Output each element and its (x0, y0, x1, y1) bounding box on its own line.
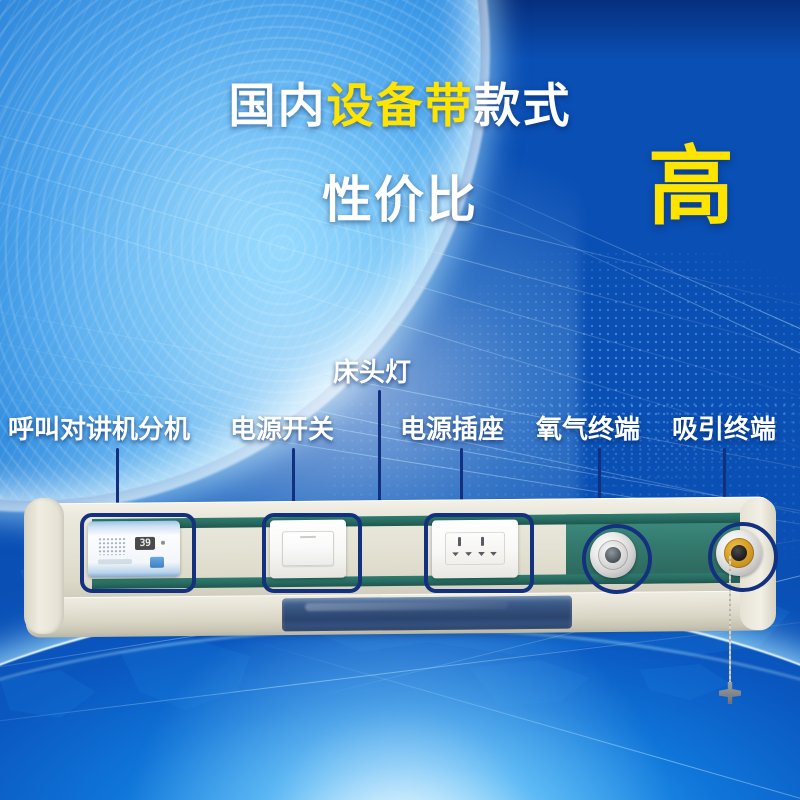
headline: 国内设备带款式 性价比 (0, 78, 800, 136)
highlight-box-switch (262, 513, 362, 593)
panel-end-cap-left (24, 498, 64, 634)
headline-emphasis: 高 (648, 144, 734, 230)
highlight-circle-suction (708, 522, 778, 592)
callout-label-suction: 吸引终端 (672, 415, 776, 445)
callout-label-bedlamp: 床头灯 (333, 358, 411, 388)
callout-label-socket: 电源插座 (400, 415, 504, 445)
callout-label-intercom: 呼叫对讲机分机 (8, 415, 190, 445)
bed-lamp-diffuser[interactable] (282, 596, 572, 632)
highlight-box-intercom (80, 513, 196, 593)
banner-stage: 国内设备带款式 性价比 高 呼叫对讲机分机 电源开关 床头灯 电源插座 氧气终端… (0, 0, 800, 800)
highlight-circle-oxygen (582, 524, 652, 594)
headline-line-1: 国内设备带款式 (0, 78, 800, 136)
headline-line-2-text: 性价比 (322, 171, 478, 229)
headline-part-2-highlight: 设备带 (327, 79, 474, 134)
callout-label-oxygen: 氧气终端 (536, 415, 640, 445)
highlight-box-socket (424, 513, 534, 593)
bed-head-unit-panel: 39 (16, 500, 784, 635)
callout-label-switch: 电源开关 (230, 415, 334, 445)
headline-part-3: 款式 (474, 79, 572, 134)
headline-part-1: 国内 (229, 79, 327, 134)
